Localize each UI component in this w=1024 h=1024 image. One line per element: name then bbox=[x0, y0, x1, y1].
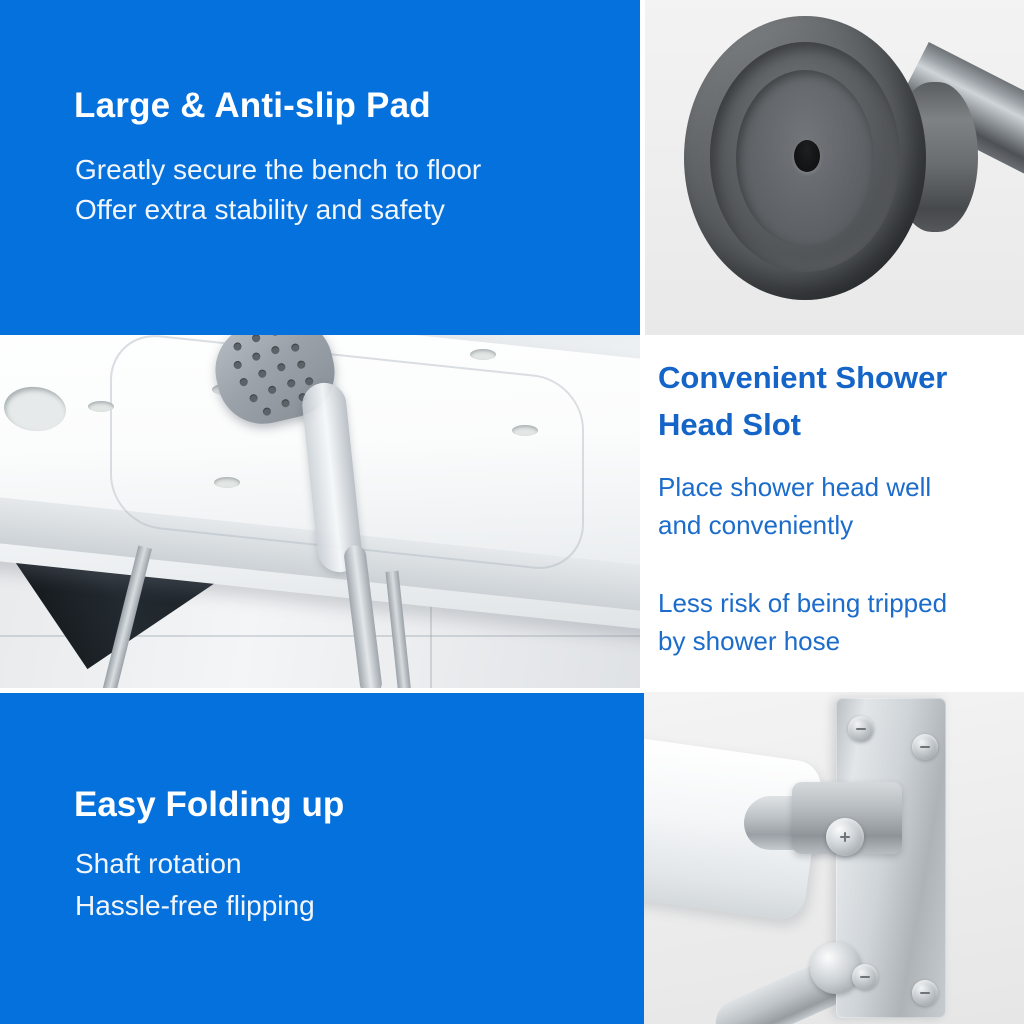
panel-body-line: Place shower head well bbox=[658, 468, 1024, 506]
photo-anti-slip-rubber-foot bbox=[644, 0, 1024, 335]
bench-drain-hole bbox=[470, 349, 496, 360]
panel-body-line: Greatly secure the bench to floor bbox=[75, 150, 481, 190]
feature-panel-anti-slip-pad: Large & Anti-slip Pad Greatly secure the… bbox=[0, 0, 644, 335]
panel-divider bbox=[640, 335, 645, 692]
hinge-pivot-screw bbox=[826, 818, 864, 856]
photo-wall-mount-bracket bbox=[644, 692, 1024, 1024]
panel-title-line: Convenient Shower bbox=[658, 354, 1018, 401]
panel-body-line: Less risk of being tripped bbox=[658, 584, 1024, 622]
panel-title-line: Head Slot bbox=[658, 401, 1018, 448]
mounting-screw bbox=[912, 980, 938, 1006]
panel-title-easy-folding: Easy Folding up bbox=[74, 785, 344, 825]
panel-body-anti-slip-pad: Greatly secure the bench to floor Offer … bbox=[75, 150, 481, 230]
photo-backdrop bbox=[644, 692, 1024, 1024]
panel-divider bbox=[0, 688, 644, 693]
feature-panel-easy-folding: Easy Folding up Shaft rotation Hassle-fr… bbox=[0, 692, 644, 1024]
photo-backdrop bbox=[644, 0, 1024, 335]
mounting-screw bbox=[852, 964, 878, 990]
panel-body-line: and conveniently bbox=[658, 506, 1024, 544]
product-feature-collage: Large & Anti-slip Pad Greatly secure the… bbox=[0, 0, 1024, 1024]
bench-drain-hole bbox=[214, 477, 240, 488]
panel-paragraph-place-head: Place shower head well and conveniently bbox=[658, 468, 1024, 544]
panel-paragraph-trip-risk: Less risk of being tripped by shower hos… bbox=[658, 584, 1024, 660]
rubber-foot-center-hole bbox=[794, 140, 820, 172]
feature-panel-shower-head-slot: Convenient Shower Head Slot Place shower… bbox=[644, 335, 1024, 692]
panel-body-line: Offer extra stability and safety bbox=[75, 190, 481, 230]
mounting-screw bbox=[912, 734, 938, 760]
panel-divider bbox=[640, 0, 645, 335]
photo-backdrop bbox=[0, 335, 644, 692]
mounting-screw bbox=[848, 716, 874, 742]
panel-body-easy-folding: Shaft rotation Hassle-free flipping bbox=[75, 843, 315, 927]
panel-body-line: Shaft rotation bbox=[75, 843, 315, 885]
bench-drain-hole bbox=[512, 425, 538, 436]
panel-title-shower-head-slot: Convenient Shower Head Slot bbox=[658, 354, 1018, 448]
photo-bench-with-shower-head bbox=[0, 335, 644, 692]
panel-title-anti-slip-pad: Large & Anti-slip Pad bbox=[74, 86, 431, 126]
panel-body-line: Hassle-free flipping bbox=[75, 885, 315, 927]
bench-drain-hole bbox=[88, 401, 114, 412]
panel-body-line: by shower hose bbox=[658, 622, 1024, 660]
